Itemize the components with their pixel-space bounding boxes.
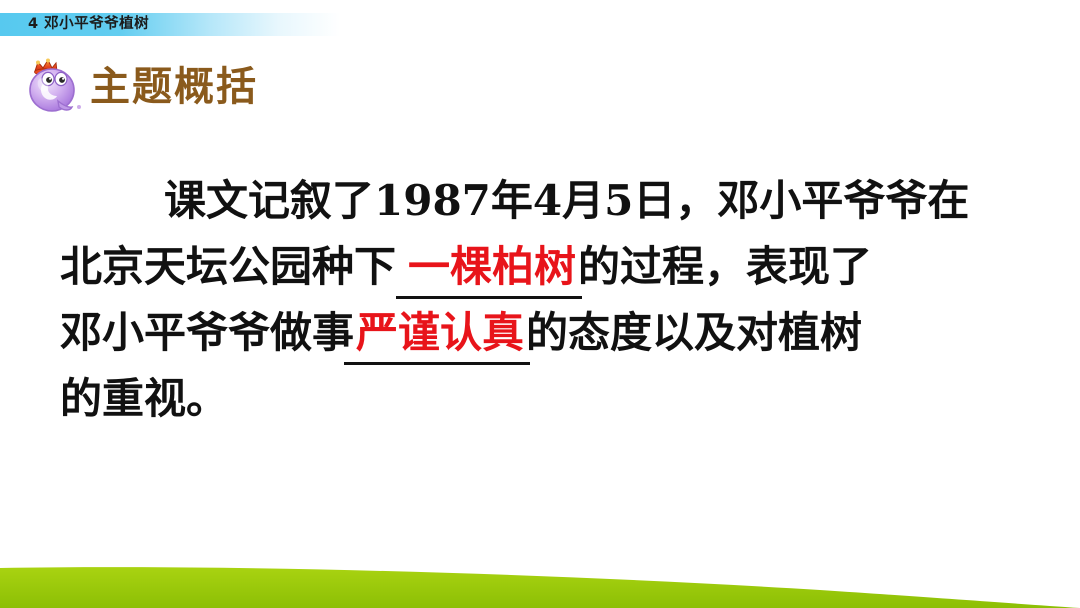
section-title: 主题概括 [90,67,258,107]
blank-answer-attitude[interactable]: 严谨认真 [354,308,526,357]
line3-suffix-text: 的态度以及对植树 [526,308,862,357]
lesson-header-title: 4 邓小平爷爷植树 [28,13,149,36]
paragraph-line-4: 的重视。 [60,366,1040,432]
paragraph-line-1: 课文记叙了1987年4月5日，邓小平爷爷在 [60,168,1040,234]
blank-answer-tree[interactable]: 一棵柏树 [406,242,578,291]
line2-prefix-text: 北京天坛公园种下 [60,242,396,291]
green-curve-footer [0,538,1080,608]
line1-text: 课文记叙了1987年4月5日，邓小平爷爷在 [164,176,969,225]
paragraph-line-2: 北京天坛公园种下一棵柏树的过程，表现了 [60,234,1040,300]
summary-paragraph: 课文记叙了1987年4月5日，邓小平爷爷在 北京天坛公园种下一棵柏树的过程，表现… [60,168,1040,432]
purple-q-mascot-icon [22,57,84,117]
line2-suffix-text: 的过程，表现了 [578,242,872,291]
section-heading: 主题概括 [22,57,258,117]
line4-text: 的重视。 [60,374,228,423]
line3-prefix-text: 邓小平爷爷做事 [60,308,354,357]
paragraph-line-3: 邓小平爷爷做事严谨认真的态度以及对植树 [60,300,1040,366]
